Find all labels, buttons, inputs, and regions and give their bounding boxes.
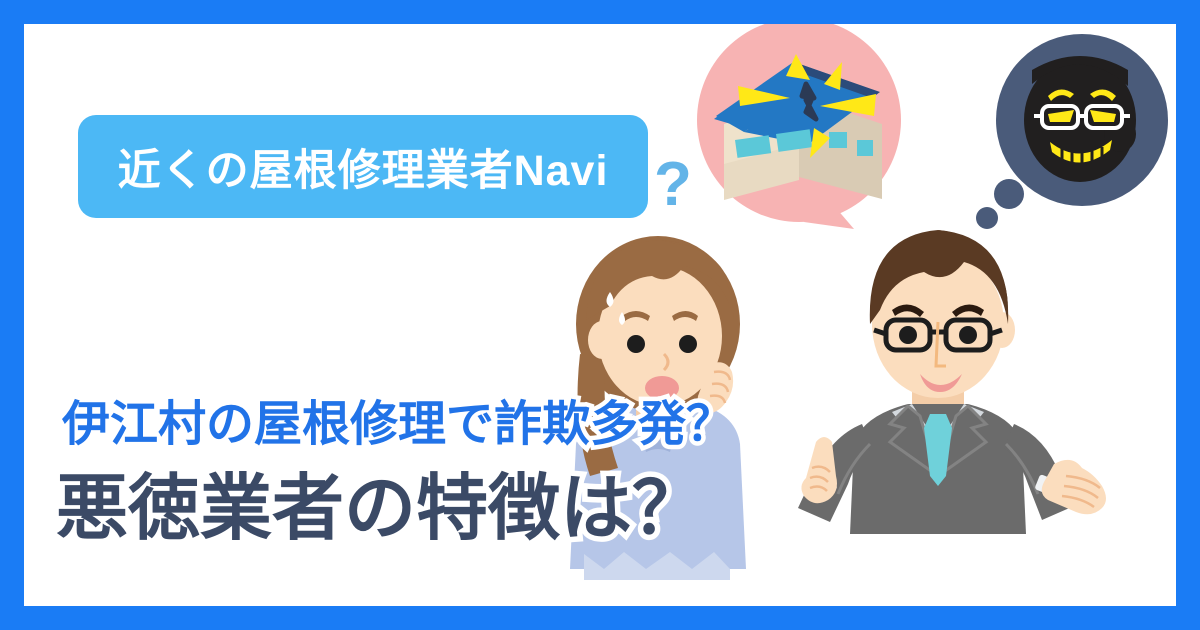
site-badge[interactable]: 近くの屋根修理業者Navi (78, 115, 648, 218)
headline-line-1: 伊江村の屋根修理で詐欺多発？ (62, 384, 734, 454)
site-badge-label: 近くの屋根修理業者Navi (118, 136, 609, 198)
thumbnail-canvas: 近くの屋根修理業者Navi ? 伊江村の屋根修理で詐欺多発？ 悪徳業者の特徴は？ (0, 0, 1200, 630)
inner-white-panel: 近くの屋根修理業者Navi ? 伊江村の屋根修理で詐欺多発？ 悪徳業者の特徴は？ (24, 24, 1176, 606)
headline-line-2: 悪徳業者の特徴は？ (56, 449, 704, 554)
question-mark-decoration-icon: ? (654, 154, 692, 216)
pointing-up-hand (801, 437, 837, 503)
